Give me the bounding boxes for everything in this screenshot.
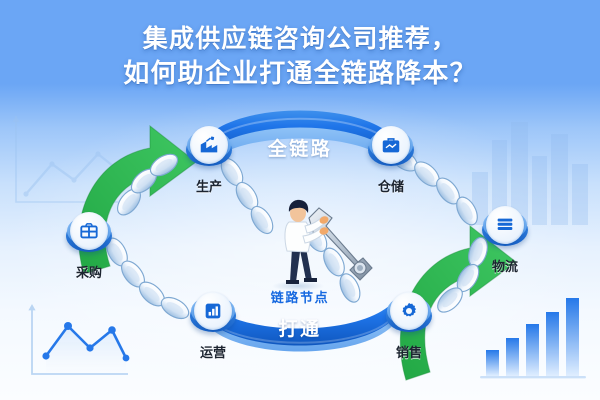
- server-stack-icon: [486, 206, 524, 244]
- infographic-canvas: 集成供应链咨询公司推荐， 如何助企业打通全链路降本？: [0, 0, 600, 400]
- banner-top-label: 全链路: [0, 134, 600, 161]
- page-title: 集成供应链咨询公司推荐， 如何助企业打通全链路降本？: [0, 22, 600, 90]
- worker-with-wrench-illustration: [262, 196, 382, 292]
- node-procurement-label: 采购: [44, 262, 134, 281]
- page-title-line-1: 集成供应链咨询公司推荐，: [0, 22, 600, 56]
- node-logistics-label: 物流: [460, 256, 550, 275]
- page-title-line-2: 如何助企业打通全链路降本？: [0, 56, 600, 90]
- node-production-label: 生产: [164, 176, 254, 195]
- wrench-icon: [309, 208, 372, 280]
- node-procurement[interactable]: 采购: [66, 212, 112, 258]
- shopping-bag-icon: [70, 212, 108, 250]
- node-logistics[interactable]: 物流: [482, 206, 528, 252]
- node-sales-label: 销售: [364, 342, 454, 361]
- node-warehousing-label: 仓储: [346, 176, 436, 195]
- banner-bottom-label: 打通: [0, 314, 600, 341]
- node-operations-label: 运营: [168, 342, 258, 361]
